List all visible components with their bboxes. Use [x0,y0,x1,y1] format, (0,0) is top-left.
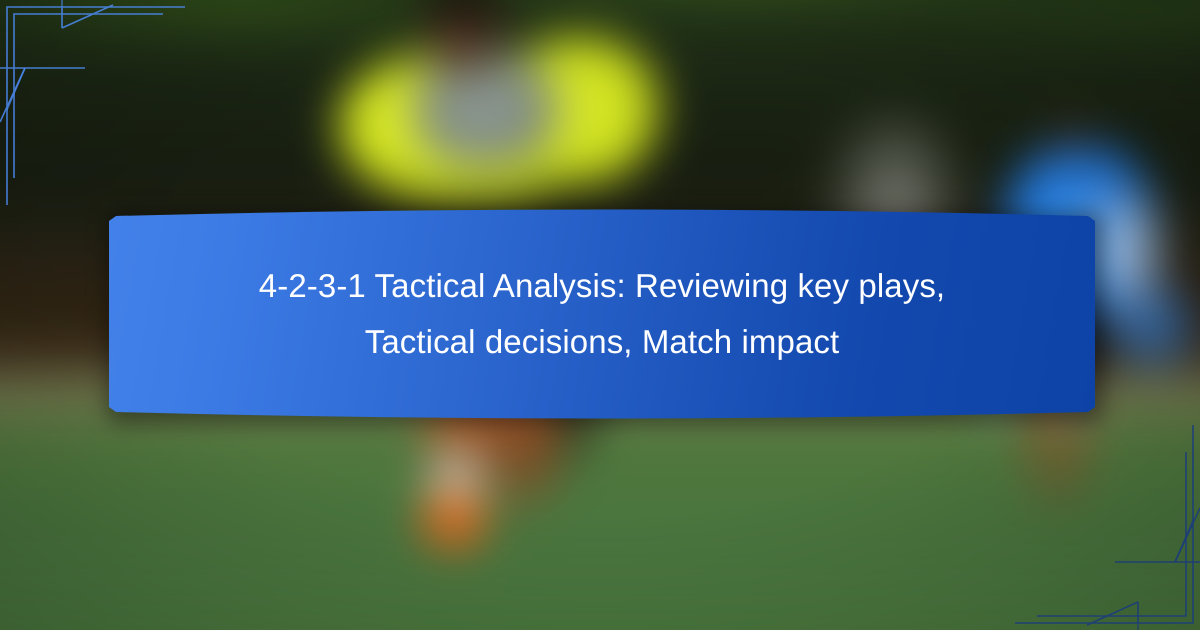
title-banner: 4-2-3-1 Tactical Analysis: Reviewing key… [96,198,1108,430]
banner-title-line-2: Tactical decisions, Match impact [160,314,1044,370]
banner-title-line-1: 4-2-3-1 Tactical Analysis: Reviewing key… [160,258,1044,314]
banner-title: 4-2-3-1 Tactical Analysis: Reviewing key… [102,258,1102,370]
banner-canvas: 4-2-3-1 Tactical Analysis: Reviewing key… [0,0,1200,630]
banner-plate: 4-2-3-1 Tactical Analysis: Reviewing key… [102,207,1102,421]
